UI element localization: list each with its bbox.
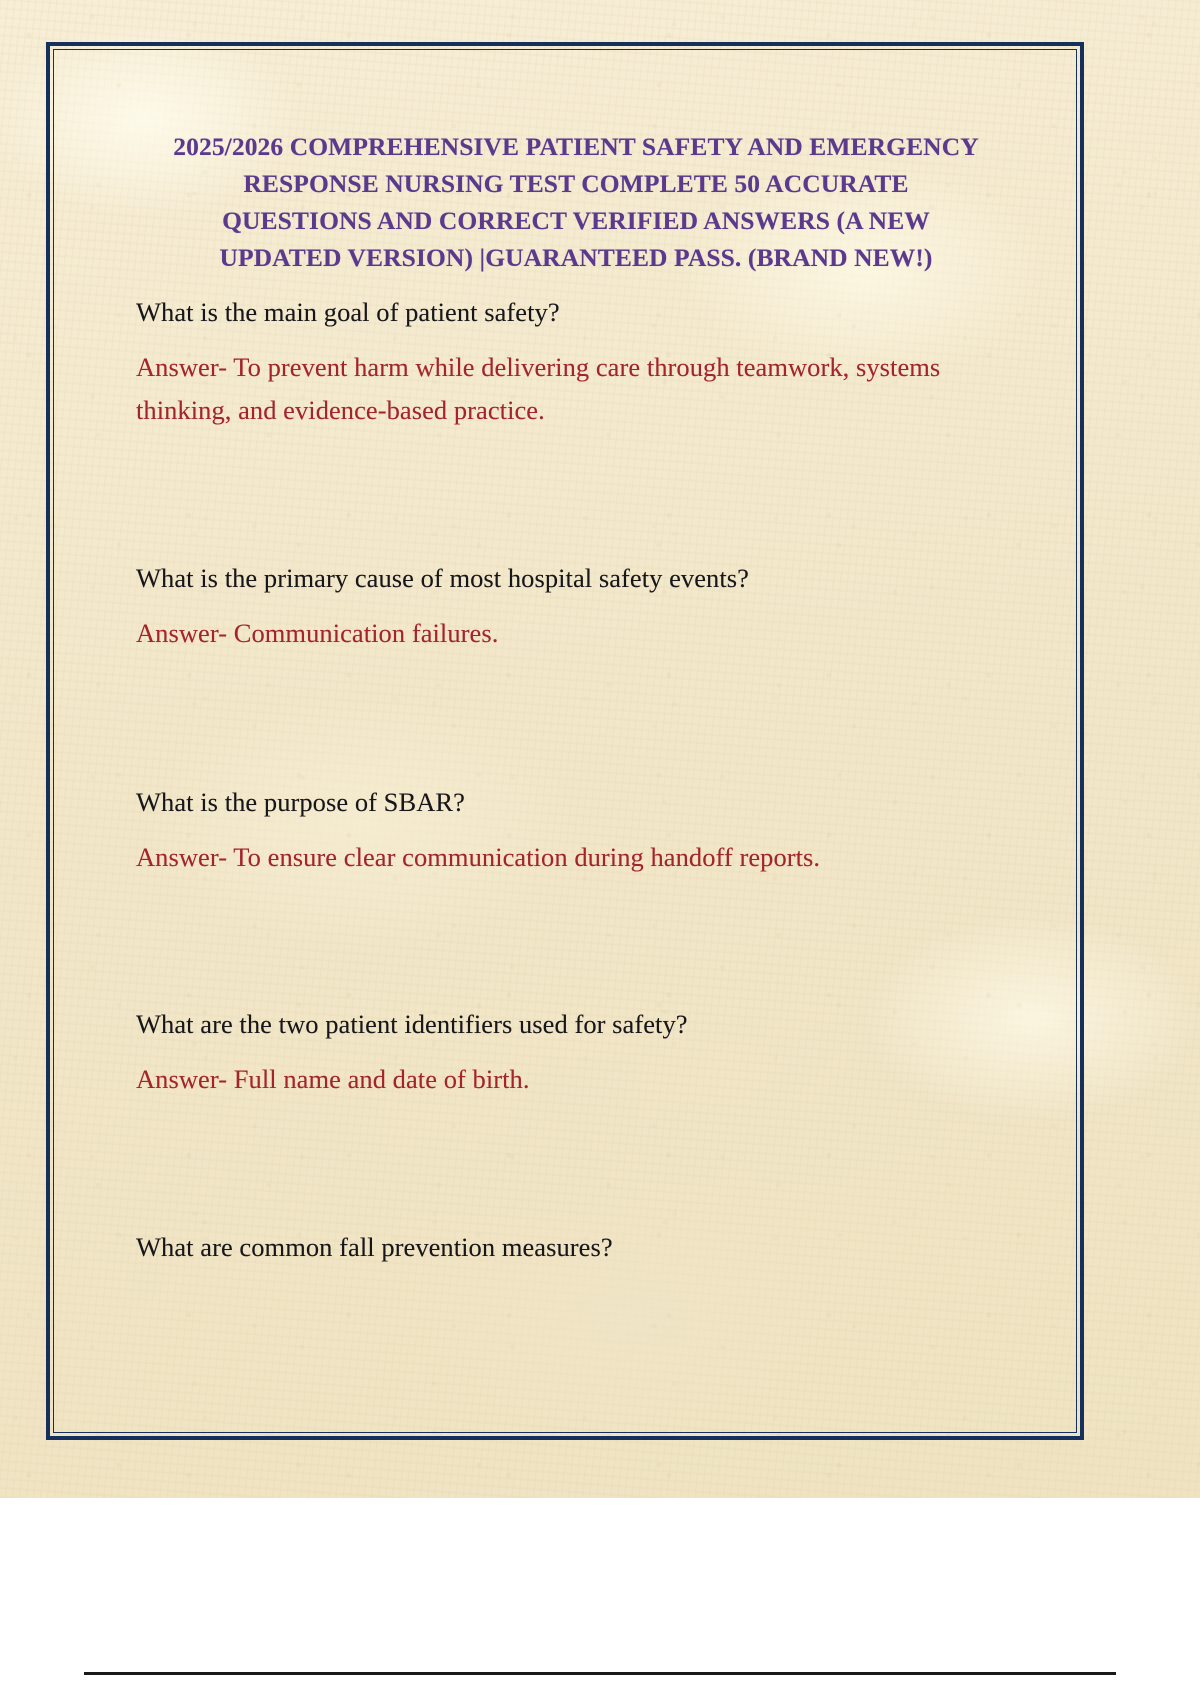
- page-gap-area: [0, 1498, 1200, 1700]
- qa-item-5: What are common fall prevention measures…: [136, 1229, 1016, 1265]
- question-text: What is the purpose of SBAR?: [136, 784, 1016, 820]
- bottom-divider-rule: [84, 1672, 1116, 1675]
- qa-item-3: What is the purpose of SBAR? Answer- To …: [136, 784, 1016, 879]
- section-spacer: [136, 879, 1016, 1006]
- answer-text: Answer- Full name and date of birth.: [136, 1058, 1016, 1101]
- answer-text: Answer- To ensure clear communication du…: [136, 836, 1016, 879]
- question-text: What are the two patient identifiers use…: [136, 1006, 1016, 1042]
- document-content: 2025/2026 COMPREHENSIVE PATIENT SAFETY A…: [136, 128, 1016, 1265]
- question-text: What is the main goal of patient safety?: [136, 294, 1016, 330]
- question-text: What is the primary cause of most hospit…: [136, 560, 1016, 596]
- document-page: 2025/2026 COMPREHENSIVE PATIENT SAFETY A…: [0, 0, 1200, 1498]
- answer-text: Answer- To prevent harm while delivering…: [136, 346, 1016, 432]
- question-text: What are common fall prevention measures…: [136, 1229, 1016, 1265]
- qa-item-2: What is the primary cause of most hospit…: [136, 560, 1016, 655]
- section-spacer: [136, 655, 1016, 784]
- section-spacer: [136, 432, 1016, 560]
- qa-item-4: What are the two patient identifiers use…: [136, 1006, 1016, 1101]
- answer-text: Answer- Communication failures.: [136, 612, 1016, 655]
- document-title: 2025/2026 COMPREHENSIVE PATIENT SAFETY A…: [136, 128, 1016, 276]
- qa-item-1: What is the main goal of patient safety?…: [136, 294, 1016, 432]
- section-spacer: [136, 1101, 1016, 1229]
